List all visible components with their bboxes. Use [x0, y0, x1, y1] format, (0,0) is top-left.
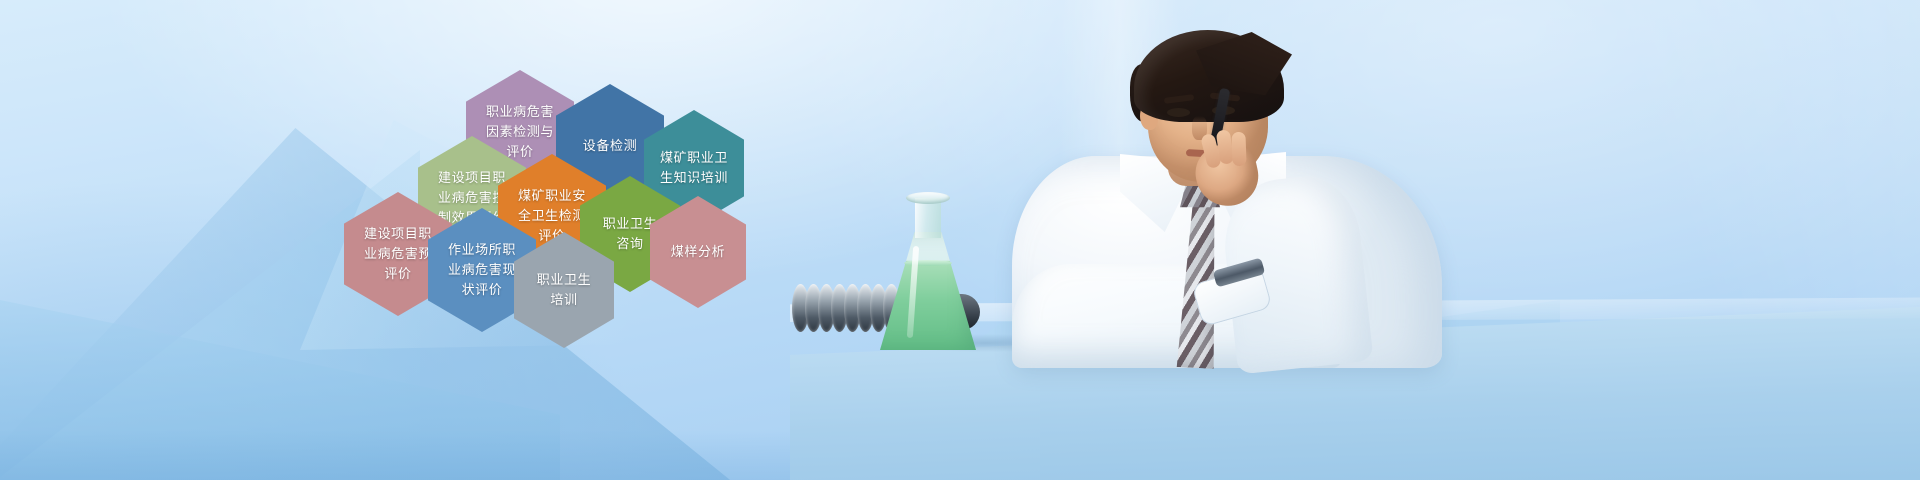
hex-label: 作业场所职 业病危害现 状评价 [439, 240, 525, 299]
flask-neck [915, 198, 941, 238]
hex-label: 职业卫生 培训 [528, 270, 600, 310]
hex-label: 设备检测 [574, 136, 646, 156]
eye-left [1167, 108, 1190, 117]
person-figure [1000, 28, 1470, 368]
service-hexagon-cluster: 职业病危害 因素检测与 评价 设备检测 煤矿职业卫 生知识培训 建设项目职 业病… [0, 0, 800, 480]
erlenmeyer-flask [880, 190, 976, 350]
hex-label: 煤样分析 [662, 242, 734, 262]
finger [1231, 132, 1246, 166]
hex-label: 煤矿职业卫 生知识培训 [651, 148, 737, 188]
flask-rim [906, 192, 950, 204]
flask-body [880, 232, 976, 350]
hero-banner: 职业病危害 因素检测与 评价 设备检测 煤矿职业卫 生知识培训 建设项目职 业病… [0, 0, 1920, 480]
lab-professional-photo [790, 0, 1920, 480]
